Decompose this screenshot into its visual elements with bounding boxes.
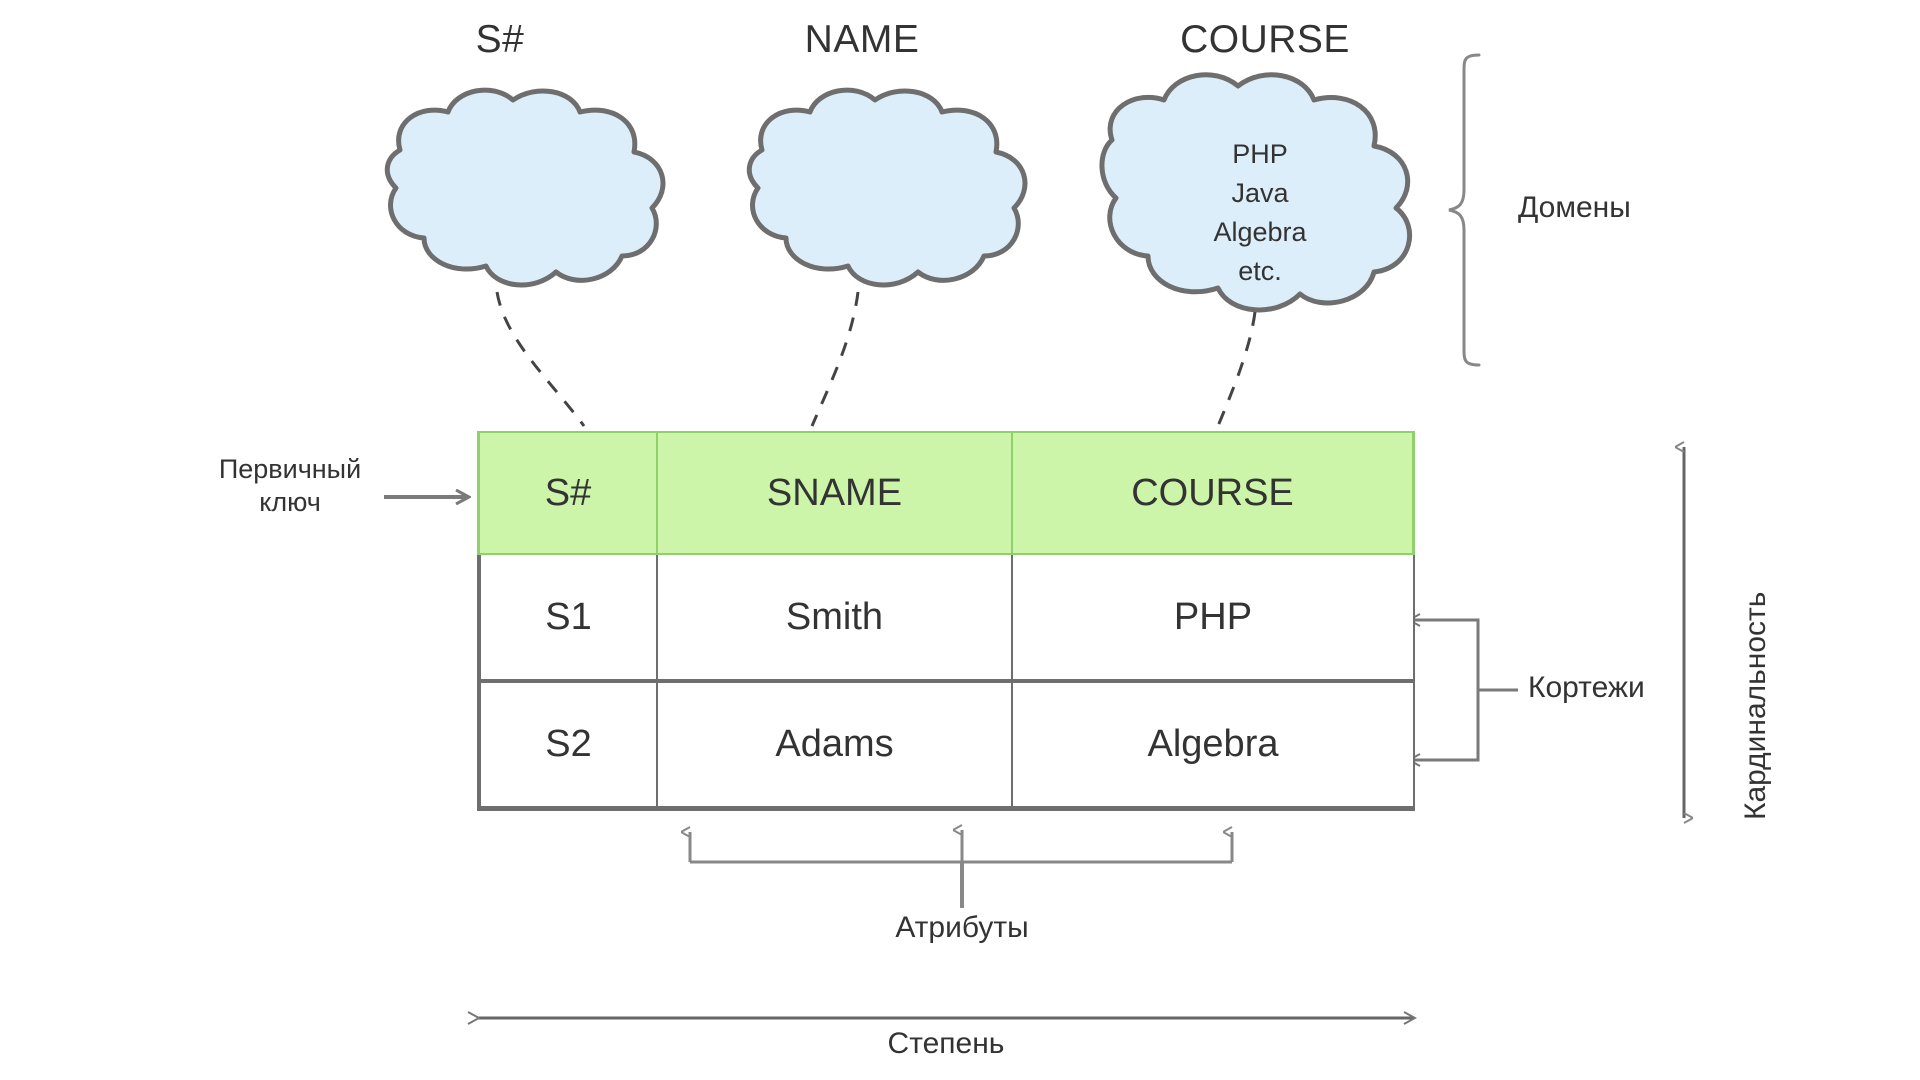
domain-title-snum: S# bbox=[400, 18, 600, 62]
table-cell-sname: Adams bbox=[657, 683, 1012, 811]
domain-cloud-name-shape bbox=[749, 90, 1025, 285]
diagram-canvas: S# NAME COURSE PHP Java Algebra etc. Дом… bbox=[0, 0, 1920, 1080]
table-cell-course: PHP bbox=[1012, 555, 1415, 683]
table-header-cell-snum: S# bbox=[477, 431, 657, 555]
degree-label: Степень bbox=[826, 1028, 1066, 1060]
attributes-connector bbox=[690, 830, 1232, 908]
domain-cloud-course-values: PHP Java Algebra etc. bbox=[1160, 135, 1360, 291]
domain-cloud-snum-shape bbox=[387, 90, 663, 285]
domains-brace bbox=[1449, 55, 1479, 365]
table-row: S2 Adams Algebra bbox=[477, 683, 1415, 811]
domains-label: Домены bbox=[1518, 192, 1631, 224]
table-header-row: S# SNAME COURSE bbox=[477, 431, 1415, 555]
table-header-cell-course: COURSE bbox=[1012, 431, 1415, 555]
table-row: S1 Smith PHP bbox=[477, 555, 1415, 683]
domain-title-name: NAME bbox=[762, 18, 962, 62]
domain-title-course: COURSE bbox=[1140, 18, 1390, 62]
attributes-label: Атрибуты bbox=[842, 912, 1082, 944]
connector-course bbox=[1218, 312, 1255, 426]
table-cell-course: Algebra bbox=[1012, 683, 1415, 811]
table-cell-sname: Smith bbox=[657, 555, 1012, 683]
tuples-label: Кортежи bbox=[1528, 672, 1645, 704]
table-cell-snum: S2 bbox=[477, 683, 657, 811]
tuples-bracket bbox=[1410, 620, 1518, 760]
primary-key-label: Первичный ключ bbox=[190, 453, 390, 519]
table-header-cell-sname: SNAME bbox=[657, 431, 1012, 555]
cardinality-label: Кардинальность bbox=[1740, 592, 1772, 820]
connector-name bbox=[812, 292, 858, 426]
connector-snum bbox=[497, 292, 584, 426]
table-cell-snum: S1 bbox=[477, 555, 657, 683]
